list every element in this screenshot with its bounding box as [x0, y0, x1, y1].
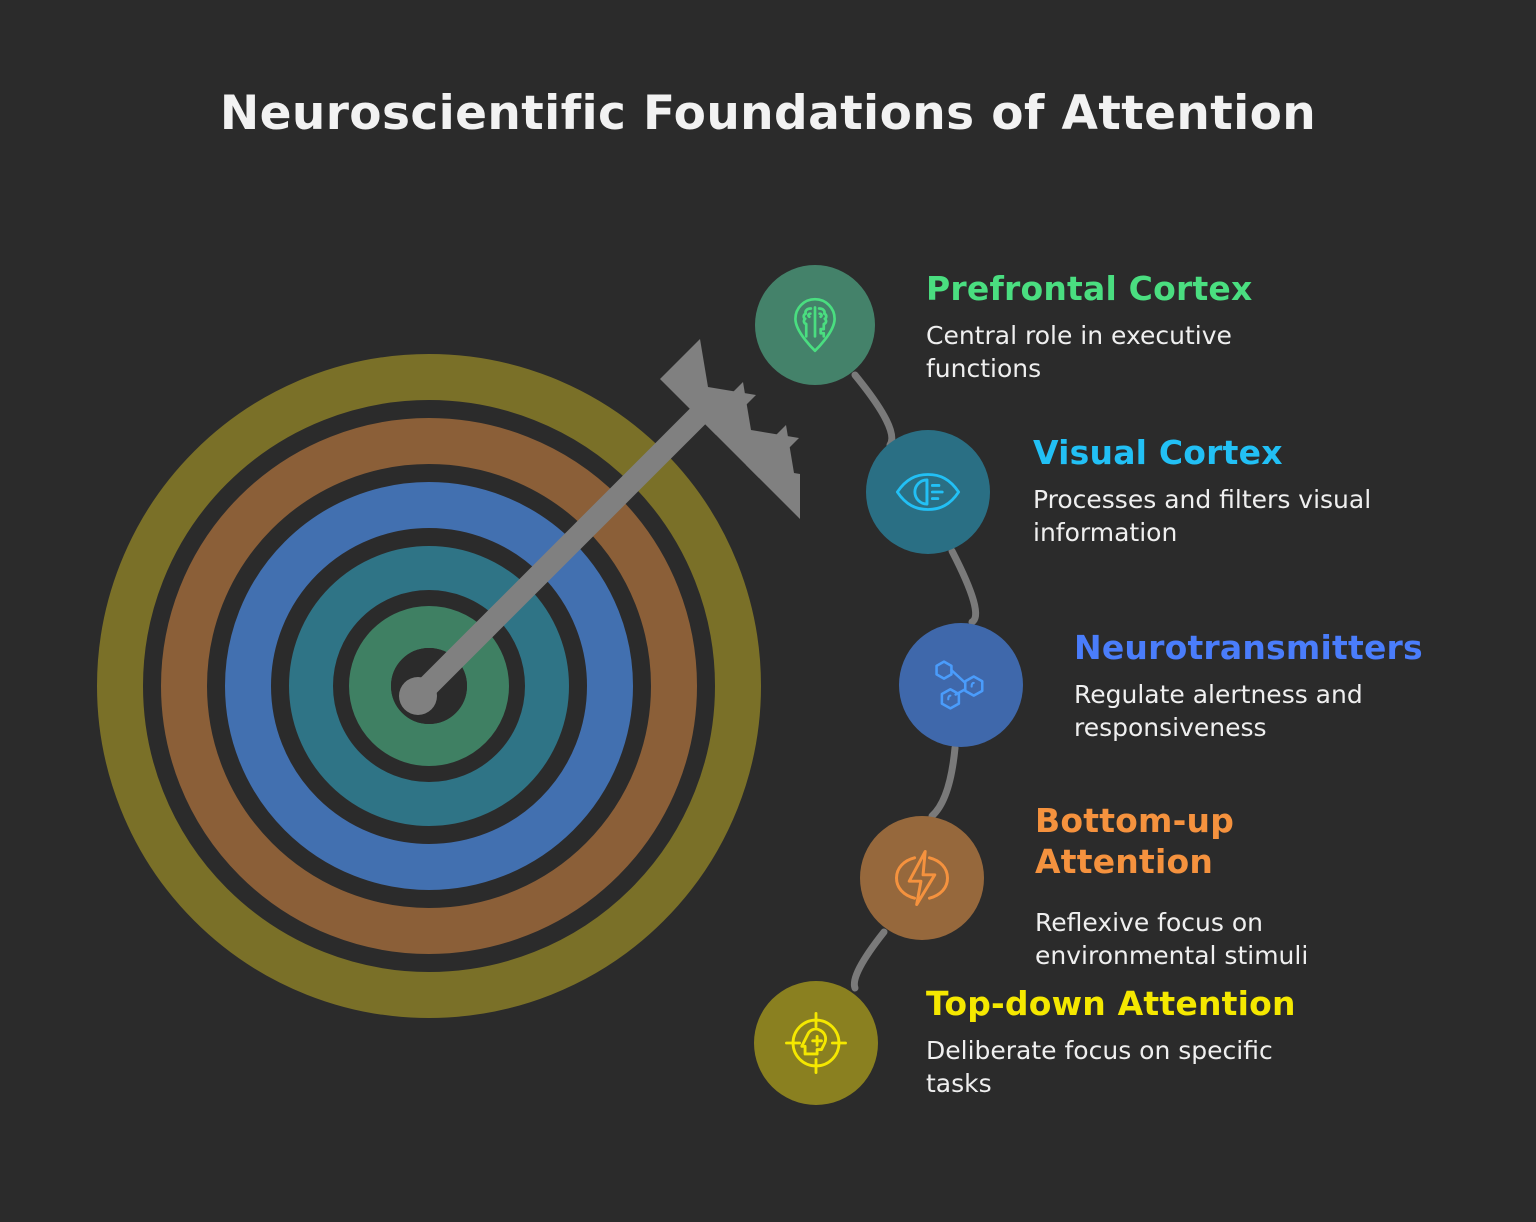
step-heading-neurotransmitters: Neurotransmitters [1074, 627, 1504, 668]
archery-target-graphic [60, 330, 800, 1070]
connector-1-2 [855, 375, 892, 445]
step-desc-neurotransmitters: Regulate alertness and responsiveness [1074, 678, 1394, 744]
step-text-bottom-up-attention: Bottom-up Attention Reflexive focus on e… [1035, 800, 1465, 972]
connector-3-4 [932, 748, 955, 816]
step-node-top-down-attention[interactable] [754, 981, 878, 1105]
step-desc-visual-cortex: Processes and filters visual information [1033, 483, 1393, 549]
connector-2-3 [952, 551, 976, 622]
step-heading-bottom-up-attention: Bottom-up Attention [1035, 800, 1285, 882]
step-node-prefrontal-cortex[interactable] [755, 265, 875, 385]
eye-icon [893, 457, 963, 527]
page-title: Neuroscientific Foundations of Attention [0, 86, 1536, 141]
step-node-neurotransmitters[interactable] [899, 623, 1023, 747]
arrow-tip-point [399, 677, 437, 715]
step-heading-top-down-attention: Top-down Attention [926, 983, 1356, 1024]
step-heading-prefrontal-cortex: Prefrontal Cortex [926, 268, 1356, 309]
step-node-visual-cortex[interactable] [866, 430, 990, 554]
step-text-top-down-attention: Top-down Attention Deliberate focus on s… [926, 983, 1356, 1100]
molecule-icon [927, 651, 995, 719]
step-desc-bottom-up-attention: Reflexive focus on environmental stimuli [1035, 906, 1335, 972]
step-desc-prefrontal-cortex: Central role in executive functions [926, 319, 1256, 385]
step-node-bottom-up-attention[interactable] [860, 816, 984, 940]
connector-4-5 [854, 932, 884, 988]
step-text-neurotransmitters: Neurotransmitters Regulate alertness and… [1074, 627, 1504, 744]
step-text-visual-cortex: Visual Cortex Processes and filters visu… [1033, 432, 1463, 549]
lightning-bolt-icon [888, 844, 956, 912]
infographic-canvas: Neuroscientific Foundations of Attention [0, 0, 1536, 1222]
step-desc-top-down-attention: Deliberate focus on specific tasks [926, 1034, 1276, 1100]
crosshair-head-icon [781, 1008, 851, 1078]
step-text-prefrontal-cortex: Prefrontal Cortex Central role in execut… [926, 268, 1356, 385]
step-heading-visual-cortex: Visual Cortex [1033, 432, 1463, 473]
brain-pin-icon [782, 292, 848, 358]
